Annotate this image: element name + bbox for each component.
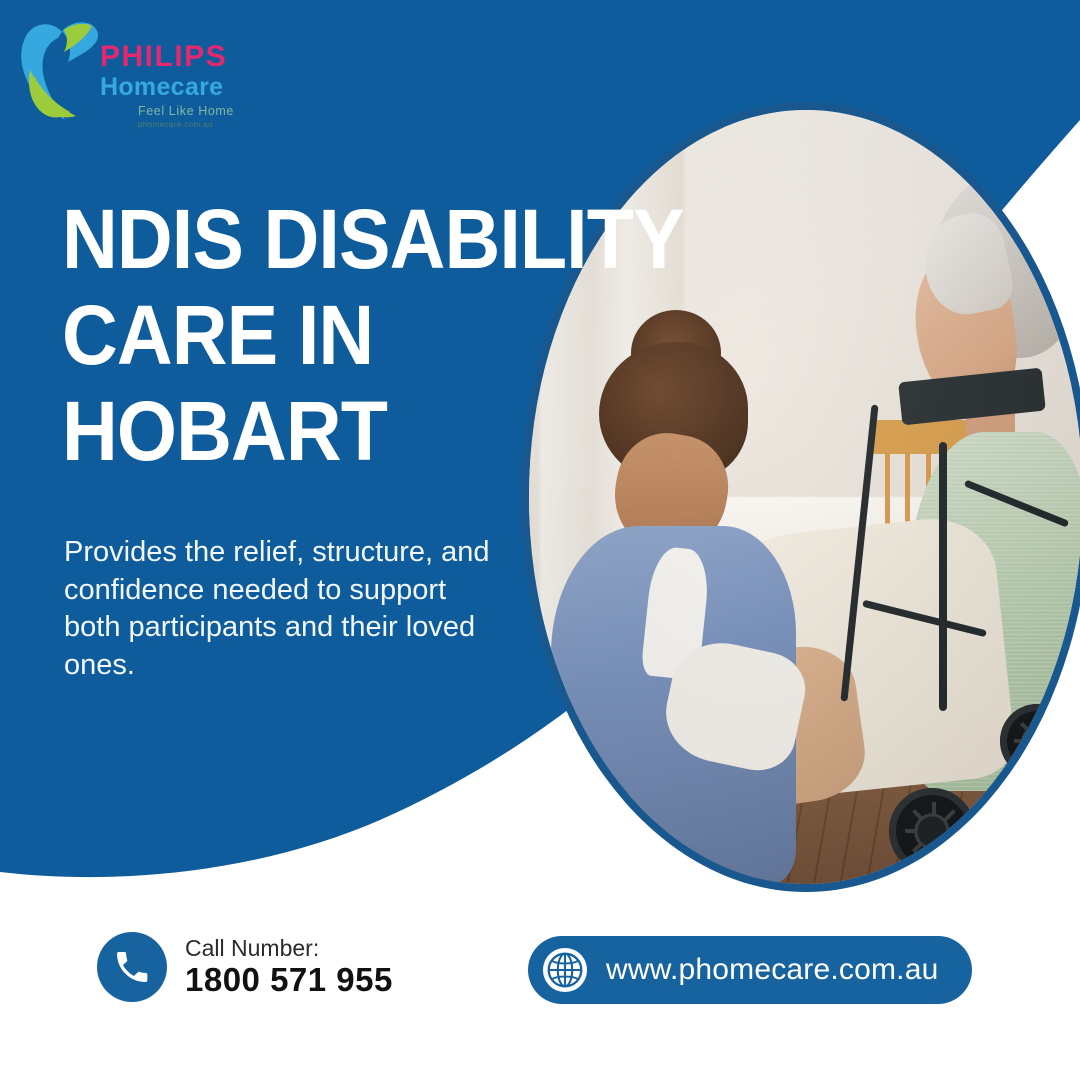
logo-wordmark: PHILIPS Homecare <box>100 42 227 102</box>
call-number-block[interactable]: Call Number: 1800 571 955 <box>97 932 393 1002</box>
headline-line-1: NDIS DISABILITY <box>62 200 596 278</box>
headline-line-3: HOBART <box>62 392 596 470</box>
wheelchair-frame-bar <box>964 480 1069 528</box>
wheelchair <box>817 404 1080 884</box>
logo-secondary-name: Homecare <box>100 73 227 102</box>
wheelchair-frame-bar <box>840 405 878 702</box>
logo-tagline: Feel Like Home <box>138 104 234 118</box>
globe-icon <box>542 947 588 993</box>
subtitle-text: Provides the relief, structure, and conf… <box>64 534 504 685</box>
headline-line-2: CARE IN <box>62 296 596 374</box>
wheelchair-wheel <box>889 788 975 874</box>
wheelchair-frame-bar <box>862 600 987 638</box>
wheel-spokes <box>903 802 962 861</box>
website-url: www.phomecare.com.au <box>606 953 938 987</box>
page-title: NDIS DISABILITY CARE IN HOBART <box>62 200 642 488</box>
call-number: 1800 571 955 <box>185 961 393 999</box>
call-text-group: Call Number: 1800 571 955 <box>185 935 393 999</box>
call-label: Call Number: <box>185 935 393 961</box>
wheel-spokes <box>1012 716 1062 766</box>
logo-primary-name: PHILIPS <box>100 42 227 72</box>
logo-url: phomecare.com.au <box>138 120 213 129</box>
website-pill[interactable]: www.phomecare.com.au <box>528 936 972 1004</box>
heart-ribbon-logo-icon <box>18 18 104 122</box>
wheelchair-wheel <box>1000 704 1074 778</box>
brand-logo[interactable]: PHILIPS Homecare Feel Like Home phomecar… <box>18 16 288 128</box>
phone-icon <box>97 932 167 1002</box>
wheelchair-frame-bar <box>939 442 947 711</box>
